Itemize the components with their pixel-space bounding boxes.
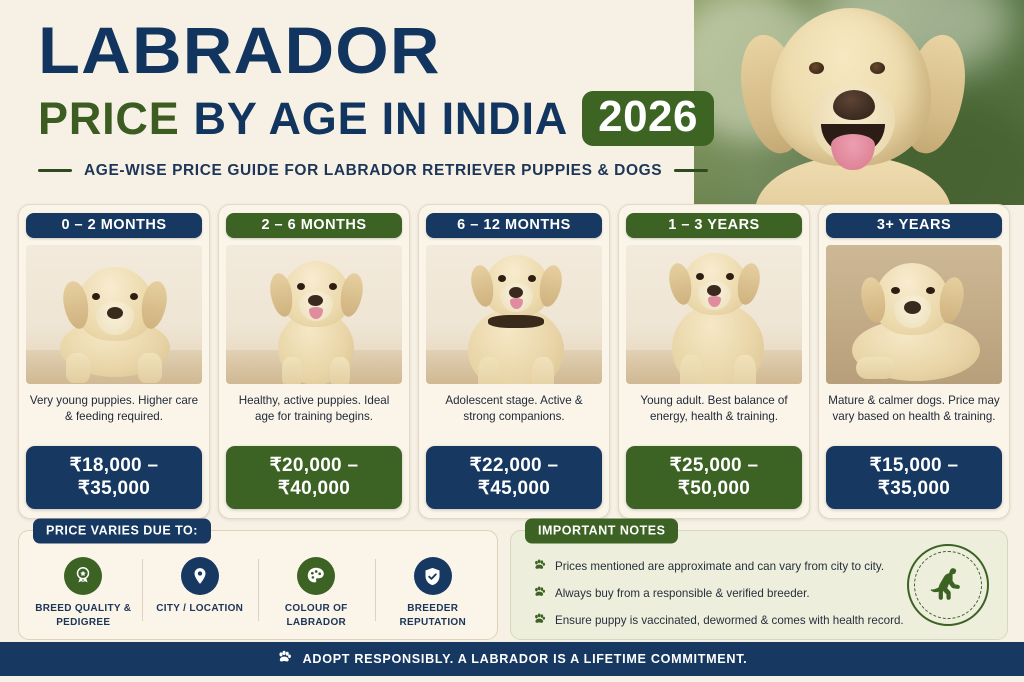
card-price-box: ₹20,000 – ₹40,000 — [226, 446, 402, 509]
card-price-line1: ₹25,000 – — [670, 455, 759, 476]
footer-text: ADOPT RESPONSIBLY. A LABRADOR IS A LIFET… — [303, 652, 748, 666]
title-byage-words: BY AGE IN INDIA — [194, 96, 569, 141]
card-dog-photo — [626, 245, 802, 384]
hero-section: LABRADOR PRICE BY AGE IN INDIA 2026 AGE-… — [0, 0, 1024, 205]
paw-icon — [533, 585, 546, 603]
card-price-line1: ₹20,000 – — [270, 455, 359, 476]
footer-bar: ADOPT RESPONSIBLY. A LABRADOR IS A LIFET… — [0, 642, 1024, 676]
page-subtitle-line: PRICE BY AGE IN INDIA 2026 — [38, 91, 728, 146]
factors-row: BREED QUALITY & PEDIGREE CITY / LOCATION — [19, 531, 497, 639]
divider-dash-right — [674, 169, 708, 172]
factor-item[interactable]: BREED QUALITY & PEDIGREE — [25, 557, 142, 629]
infographic-page: LABRADOR PRICE BY AGE IN INDIA 2026 AGE-… — [0, 0, 1024, 682]
divider-dash-left — [38, 169, 72, 172]
note-text: Prices mentioned are approximate and can… — [555, 560, 884, 574]
sitting-dog-seal-icon — [907, 544, 989, 626]
card-price-box: ₹18,000 – ₹35,000 — [26, 446, 202, 509]
subtitle-row: AGE-WISE PRICE GUIDE FOR LABRADOR RETRIE… — [38, 162, 728, 180]
note-text: Ensure puppy is vaccinated, dewormed & c… — [555, 614, 904, 628]
card-price-line2: ₹40,000 — [226, 477, 402, 500]
title-price-word: PRICE — [38, 96, 180, 141]
important-notes-panel: IMPORTANT NOTES Prices mentioned are app… — [510, 530, 1008, 640]
factor-label: BREEDER REPUTATION — [375, 602, 492, 629]
shield-check-icon — [414, 557, 452, 595]
page-title: LABRADOR — [38, 18, 756, 83]
card-description: Mature & calmer dogs. Price may vary bas… — [828, 393, 1000, 441]
card-price-box: ₹15,000 – ₹35,000 — [826, 446, 1002, 509]
factor-item[interactable]: COLOUR OF LABRADOR — [258, 557, 375, 629]
hero-labrador-illustration — [719, 6, 979, 205]
age-card[interactable]: 0 – 2 MONTHS Very young puppies. Higher … — [18, 204, 210, 519]
card-price-box: ₹25,000 – ₹50,000 — [626, 446, 802, 509]
factor-label: BREED QUALITY & PEDIGREE — [25, 602, 142, 629]
factor-label: COLOUR OF LABRADOR — [258, 602, 375, 629]
card-dog-photo — [826, 245, 1002, 384]
card-age-header: 0 – 2 MONTHS — [26, 213, 202, 238]
subtitle-text: AGE-WISE PRICE GUIDE FOR LABRADOR RETRIE… — [84, 162, 662, 180]
age-card[interactable]: 3+ YEARS Mature & calmer dogs. Price may… — [818, 204, 1010, 519]
card-price-line2: ₹50,000 — [626, 477, 802, 500]
card-dog-photo — [426, 245, 602, 384]
price-varies-panel: PRICE VARIES DUE TO: BREED QUALITY & PED… — [18, 530, 498, 640]
card-price-line2: ₹45,000 — [426, 477, 602, 500]
card-price-line2: ₹35,000 — [26, 477, 202, 500]
factor-item[interactable]: BREEDER REPUTATION — [375, 557, 492, 629]
card-age-header: 6 – 12 MONTHS — [426, 213, 602, 238]
paw-icon — [533, 558, 546, 576]
paw-icon — [533, 612, 546, 630]
card-price-line2: ₹35,000 — [826, 477, 1002, 500]
card-description: Adolescent stage. Active & strong compan… — [428, 393, 600, 441]
price-varies-tag: PRICE VARIES DUE TO: — [33, 519, 211, 544]
paw-icon — [277, 649, 292, 669]
year-badge: 2026 — [582, 91, 714, 146]
note-text: Always buy from a responsible & verified… — [555, 587, 810, 601]
award-ribbon-icon — [64, 557, 102, 595]
age-price-cards: 0 – 2 MONTHS Very young puppies. Higher … — [18, 204, 1008, 519]
location-pin-icon — [181, 557, 219, 595]
card-age-header: 2 – 6 MONTHS — [226, 213, 402, 238]
card-price-line1: ₹18,000 – — [70, 455, 159, 476]
card-price-line1: ₹15,000 – — [870, 455, 959, 476]
hero-text-block: LABRADOR PRICE BY AGE IN INDIA 2026 AGE-… — [38, 18, 728, 180]
card-age-header: 3+ YEARS — [826, 213, 1002, 238]
paint-palette-icon — [297, 557, 335, 595]
age-card[interactable]: 2 – 6 MONTHS Healthy, active pup — [218, 204, 410, 519]
card-age-header: 1 – 3 YEARS — [626, 213, 802, 238]
card-price-line1: ₹22,000 – — [470, 455, 559, 476]
card-description: Young adult. Best balance of energy, hea… — [628, 393, 800, 441]
factor-item[interactable]: CITY / LOCATION — [142, 557, 259, 616]
age-card[interactable]: 6 – 12 MONTHS Adolesc — [418, 204, 610, 519]
bottom-panels: PRICE VARIES DUE TO: BREED QUALITY & PED… — [18, 530, 1008, 640]
age-card[interactable]: 1 – 3 YEARS Young adult. Best ba — [618, 204, 810, 519]
card-dog-photo — [26, 245, 202, 384]
card-dog-photo — [226, 245, 402, 384]
important-notes-tag: IMPORTANT NOTES — [525, 519, 678, 544]
factor-label: CITY / LOCATION — [156, 602, 243, 616]
card-description: Very young puppies. Higher care & feedin… — [28, 393, 200, 441]
card-description: Healthy, active puppies. Ideal age for t… — [228, 393, 400, 441]
card-price-box: ₹22,000 – ₹45,000 — [426, 446, 602, 509]
